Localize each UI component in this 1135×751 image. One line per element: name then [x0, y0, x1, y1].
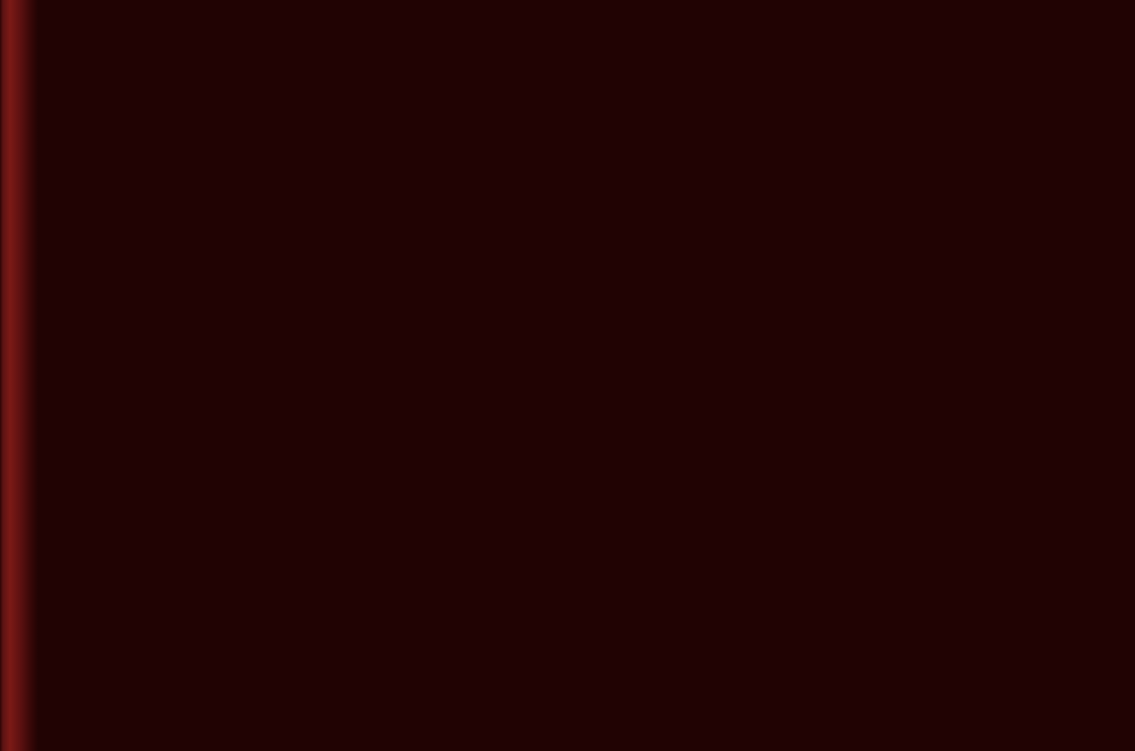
- plaque-content: 授予：安徽德科电气科技有限公司 专精特新“小巨人”企业 中华人民共和国工业和信息…: [38, 30, 1097, 709]
- frame-top-rail: [0, 0, 1135, 32]
- frame-right-stile: [1095, 0, 1135, 751]
- page-title: 专精特新“小巨人”企业: [38, 292, 1097, 410]
- issue-date: 二〇二二年八月: [615, 637, 979, 673]
- frame-left-stile: [0, 0, 40, 751]
- gold-plate: 授予：安徽德科电气科技有限公司 专精特新“小巨人”企业 中华人民共和国工业和信息…: [38, 30, 1097, 709]
- award-plaque: 授予：安徽德科电气科技有限公司 专精特新“小巨人”企业 中华人民共和国工业和信息…: [0, 0, 1135, 751]
- issuer-block: 中华人民共和国工业和信息化部 二〇二二年八月: [615, 578, 979, 673]
- issuing-authority: 中华人民共和国工业和信息化部: [615, 578, 979, 614]
- frame-bottom-rail: [0, 707, 1135, 751]
- awardee-line: 授予：安徽德科电气科技有限公司: [124, 135, 507, 171]
